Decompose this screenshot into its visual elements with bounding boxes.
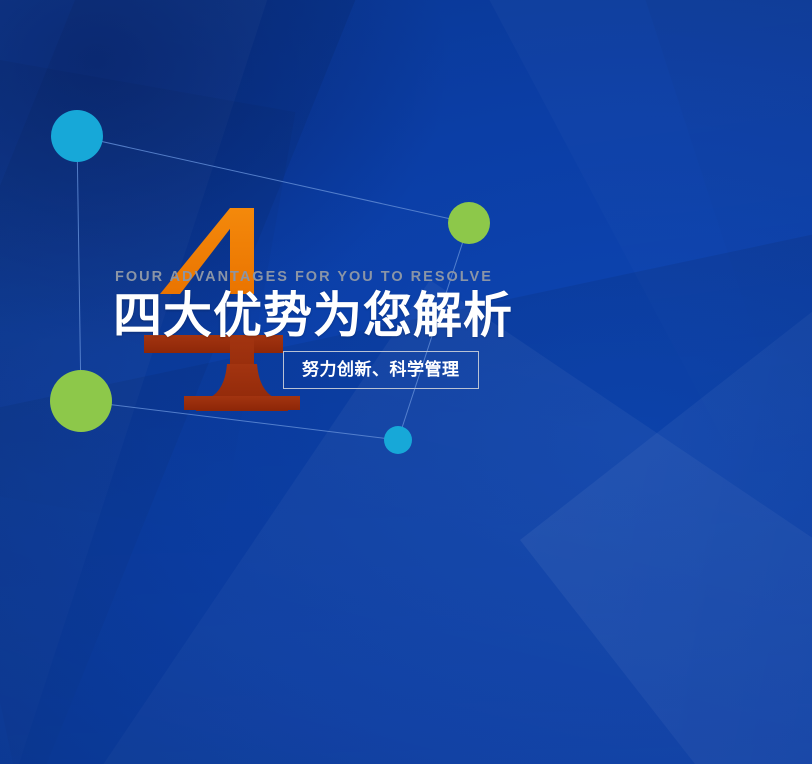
hero-copy: FOUR ADVANTAGES FOR YOU TO RESOLVE 四大优势为… <box>113 270 733 341</box>
eyebrow-text: FOUR ADVANTAGES FOR YOU TO RESOLVE <box>115 270 733 285</box>
tagline-text: 努力创新、科学管理 <box>302 361 460 378</box>
tagline-box: 努力创新、科学管理 <box>283 351 479 389</box>
node-top-left <box>51 110 103 162</box>
node-right-green <box>448 202 490 244</box>
page-title: 四大优势为您解析 <box>113 291 733 342</box>
node-bottom-small <box>384 426 412 454</box>
numeral-lower-dark <box>144 335 300 411</box>
hero-banner: FOUR ADVANTAGES FOR YOU TO RESOLVE 四大优势为… <box>0 0 812 764</box>
link-topleft-to-bottomleft <box>77 136 81 401</box>
node-bottom-left <box>50 370 112 432</box>
